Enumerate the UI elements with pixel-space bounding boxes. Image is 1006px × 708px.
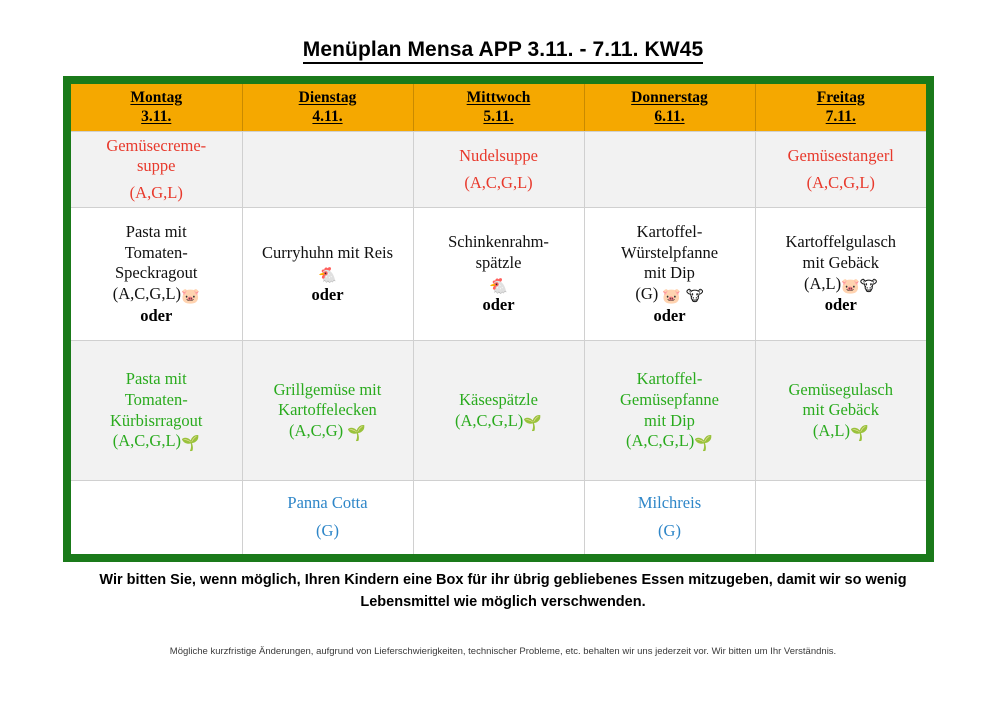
- dessert-cell-dienstag: Panna Cotta (G): [242, 481, 413, 554]
- dish-name: Kartoffel-Würstelpfannemit Dip: [590, 222, 750, 284]
- dish-name: Panna Cotta: [248, 493, 408, 514]
- column-header-montag: Montag 3.11.: [71, 84, 242, 131]
- column-header-freitag: Freitag 7.11.: [755, 84, 926, 131]
- allergen-codes: (A,L): [804, 274, 841, 293]
- seedling-icon: 🌱: [694, 434, 713, 452]
- allergen-codes: (G): [590, 521, 750, 542]
- allergen-line: 🐔: [318, 263, 337, 282]
- allergen-line: 🐔: [489, 274, 508, 293]
- veg-cell-mittwoch: Käsespätzle (A,C,G,L)🌱: [413, 341, 584, 481]
- main-cell-dienstag: Curryhuhn mit Reis 🐔 oder: [242, 208, 413, 341]
- menu-table-frame: Montag 3.11. Dienstag 4.11. Mittwoch 5.1…: [63, 76, 934, 562]
- table-header-row: Montag 3.11. Dienstag 4.11. Mittwoch 5.1…: [71, 84, 926, 131]
- allergen-codes: (A,C,G,L): [113, 284, 181, 303]
- seedling-icon: 🌱: [523, 414, 542, 432]
- dish-name: Kartoffel-Gemüsepfannemit Dip: [590, 369, 750, 431]
- main-cell-freitag: Kartoffelgulaschmit Gebäck (A,L)🐷🐮 oder: [755, 208, 926, 341]
- dish-name: Curryhuhn mit Reis: [248, 243, 408, 264]
- column-header-dienstag: Dienstag 4.11.: [242, 84, 413, 131]
- header-day-label: Montag: [76, 88, 237, 107]
- dish-name: Nudelsuppe: [419, 146, 579, 166]
- header-day-label: Mittwoch: [419, 88, 579, 107]
- dessert-cell-montag: [71, 481, 242, 554]
- soup-cell-freitag: Gemüsestangerl (A,C,G,L): [755, 131, 926, 207]
- pig-cow-icon: 🐷🐮: [841, 277, 877, 295]
- main-cell-montag: Pasta mitTomaten-Speckragout (A,C,G,L)🐷 …: [71, 208, 242, 341]
- alternative-label: oder: [761, 295, 922, 316]
- allergen-line: (A,C,G,L)🐷: [113, 284, 200, 303]
- seedling-icon: 🌱: [850, 424, 869, 442]
- vegetarian-row: Pasta mitTomaten-Kürbisrragout (A,C,G,L)…: [71, 341, 926, 481]
- header-day-label: Freitag: [761, 88, 922, 107]
- soup-cell-donnerstag: [584, 131, 755, 207]
- alternative-label: oder: [76, 306, 237, 327]
- menu-table: Montag 3.11. Dienstag 4.11. Mittwoch 5.1…: [71, 84, 926, 554]
- allergen-codes: (A,C,G,L): [419, 173, 579, 193]
- soup-cell-dienstag: [242, 131, 413, 207]
- veg-cell-donnerstag: Kartoffel-Gemüsepfannemit Dip (A,C,G,L)🌱: [584, 341, 755, 481]
- dish-name: Schinkenrahm-spätzle: [419, 232, 579, 273]
- seedling-icon: 🌱: [181, 434, 200, 452]
- dessert-row: Panna Cotta (G) Milchreis (G): [71, 481, 926, 554]
- dish-name: Pasta mitTomaten-Speckragout: [76, 222, 237, 284]
- footer-note: Wir bitten Sie, wenn möglich, Ihren Kind…: [63, 570, 943, 614]
- allergen-line: (A,C,G,L)🌱: [626, 431, 713, 450]
- pig-icon: 🐷: [181, 287, 200, 305]
- page-title: Menüplan Mensa APP 3.11. - 7.11. KW45: [0, 38, 1006, 62]
- header-date-label: 5.11.: [419, 107, 579, 126]
- dish-name: Grillgemüse mitKartoffelecken: [248, 380, 408, 421]
- veg-cell-freitag: Gemüsegulaschmit Gebäck (A,L)🌱: [755, 341, 926, 481]
- allergen-line: (A,L)🐷🐮: [804, 274, 878, 293]
- veg-cell-dienstag: Grillgemüse mitKartoffelecken (A,C,G) 🌱: [242, 341, 413, 481]
- main-cell-mittwoch: Schinkenrahm-spätzle 🐔 oder: [413, 208, 584, 341]
- dish-name: Käsespätzle: [419, 390, 579, 411]
- dish-name: Gemüsestangerl: [761, 146, 922, 166]
- header-date-label: 3.11.: [76, 107, 237, 126]
- column-header-donnerstag: Donnerstag 6.11.: [584, 84, 755, 131]
- soup-row: Gemüsecreme-suppe (A,G,L) Nudelsuppe (A,…: [71, 131, 926, 207]
- menu-plan-page: Menüplan Mensa APP 3.11. - 7.11. KW45 Mo…: [0, 0, 1006, 708]
- dish-name: Gemüsecreme-suppe: [76, 136, 237, 176]
- column-header-mittwoch: Mittwoch 5.11.: [413, 84, 584, 131]
- chicken-icon: 🐔: [489, 277, 508, 295]
- allergen-line: (A,C,G) 🌱: [289, 421, 366, 440]
- dish-name: Gemüsegulaschmit Gebäck: [761, 380, 922, 421]
- seedling-icon: 🌱: [347, 424, 366, 442]
- header-date-label: 6.11.: [590, 107, 750, 126]
- header-date-label: 4.11.: [248, 107, 408, 126]
- soup-cell-montag: Gemüsecreme-suppe (A,G,L): [71, 131, 242, 207]
- allergen-codes: (A,C,G,L): [761, 173, 922, 193]
- allergen-line: (G) 🐷 🐮: [635, 284, 703, 303]
- allergen-codes: (A,C,G,L): [113, 431, 181, 450]
- header-date-label: 7.11.: [761, 107, 922, 126]
- soup-cell-mittwoch: Nudelsuppe (A,C,G,L): [413, 131, 584, 207]
- dessert-cell-mittwoch: [413, 481, 584, 554]
- page-title-text: Menüplan Mensa APP 3.11. - 7.11. KW45: [303, 38, 704, 64]
- footer-disclaimer: Mögliche kurzfristige Änderungen, aufgru…: [63, 645, 943, 658]
- allergen-codes: (A,G,L): [76, 183, 237, 203]
- allergen-codes: (A,C,G,L): [626, 431, 694, 450]
- pig-cow-icon: 🐷 🐮: [662, 287, 703, 305]
- alternative-label: oder: [590, 306, 750, 327]
- main-cell-donnerstag: Kartoffel-Würstelpfannemit Dip (G) 🐷 🐮 o…: [584, 208, 755, 341]
- main-course-row: Pasta mitTomaten-Speckragout (A,C,G,L)🐷 …: [71, 208, 926, 341]
- allergen-line: (A,L)🌱: [813, 421, 869, 440]
- dessert-cell-freitag: [755, 481, 926, 554]
- allergen-codes: (G): [635, 284, 658, 303]
- dish-name: Milchreis: [590, 493, 750, 514]
- menu-table-body: Gemüsecreme-suppe (A,G,L) Nudelsuppe (A,…: [71, 131, 926, 553]
- dish-name: Pasta mitTomaten-Kürbisrragout: [76, 369, 237, 431]
- header-day-label: Donnerstag: [590, 88, 750, 107]
- allergen-line: (A,C,G,L)🌱: [455, 411, 542, 430]
- dish-name: Kartoffelgulaschmit Gebäck: [761, 232, 922, 273]
- allergen-codes: (A,C,G,L): [455, 411, 523, 430]
- dessert-cell-donnerstag: Milchreis (G): [584, 481, 755, 554]
- header-day-label: Dienstag: [248, 88, 408, 107]
- allergen-codes: (A,C,G): [289, 421, 343, 440]
- allergen-codes: (A,L): [813, 421, 850, 440]
- menu-table-head: Montag 3.11. Dienstag 4.11. Mittwoch 5.1…: [71, 84, 926, 131]
- alternative-label: oder: [419, 295, 579, 316]
- allergen-codes: (G): [248, 521, 408, 542]
- chicken-icon: 🐔: [318, 266, 337, 284]
- veg-cell-montag: Pasta mitTomaten-Kürbisrragout (A,C,G,L)…: [71, 341, 242, 481]
- allergen-line: (A,C,G,L)🌱: [113, 431, 200, 450]
- alternative-label: oder: [248, 285, 408, 306]
